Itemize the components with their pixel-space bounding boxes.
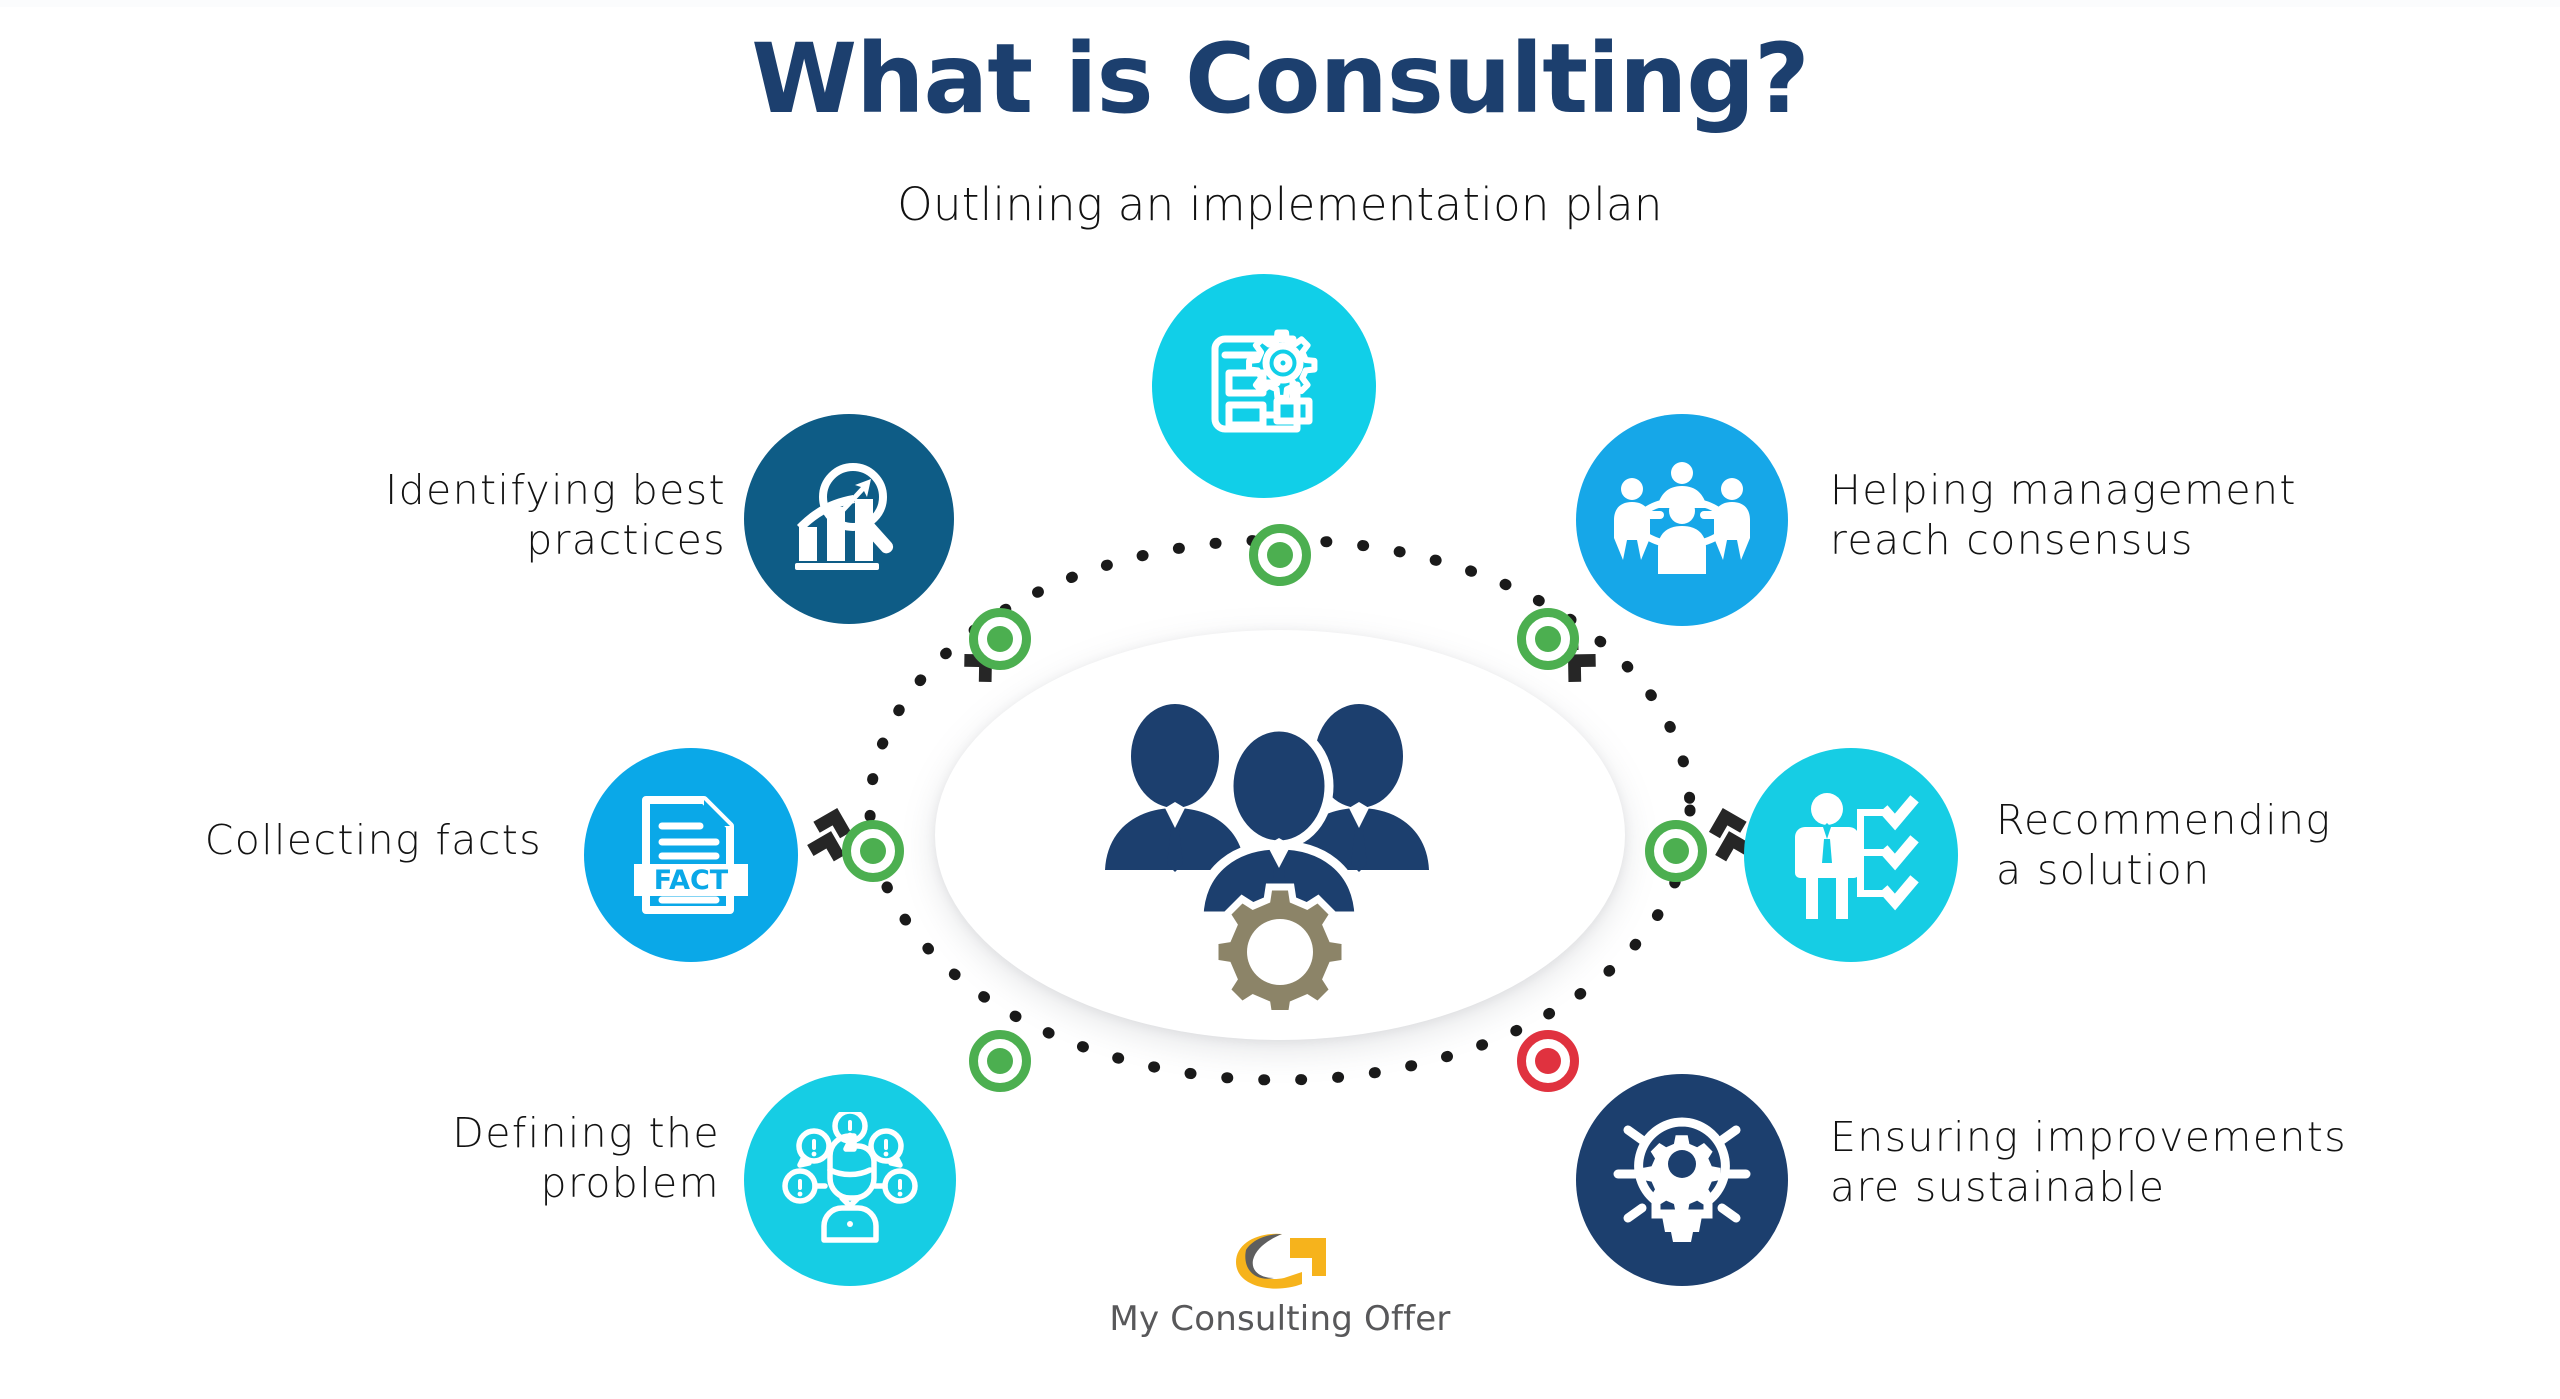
magnifier-bar-chart-icon bbox=[785, 455, 913, 583]
consultant-checklist-icon bbox=[1783, 791, 1919, 919]
node-dot bbox=[1535, 1048, 1561, 1074]
step-icon-collecting-facts[interactable]: FACT bbox=[584, 748, 798, 962]
brand-footer[interactable]: My Consulting Offer bbox=[0, 1232, 2560, 1336]
node-lower-left[interactable] bbox=[969, 1030, 1031, 1092]
consulting-cycle-diagram: FACT bbox=[0, 0, 2560, 1399]
node-dot bbox=[1535, 626, 1561, 652]
step-label-recommending-a-solution: Recommending a solution bbox=[1996, 795, 2556, 895]
fact-document-icon: FACT bbox=[630, 790, 752, 920]
node-upper-left[interactable] bbox=[969, 608, 1031, 670]
swoosh-arrow-logo bbox=[1226, 1232, 1334, 1296]
node-dot bbox=[1267, 542, 1293, 568]
meeting-table-people-icon bbox=[1612, 459, 1752, 581]
node-dot bbox=[987, 626, 1013, 652]
node-upper-right[interactable] bbox=[1517, 608, 1579, 670]
step-icon-helping-management-reach-consensus[interactable] bbox=[1576, 414, 1788, 626]
node-lower-right[interactable] bbox=[1517, 1030, 1579, 1092]
step-icon-identifying-best-practices[interactable] bbox=[744, 414, 954, 624]
node-dot bbox=[1663, 838, 1689, 864]
node-top[interactable] bbox=[1249, 524, 1311, 586]
brand-name: My Consulting Offer bbox=[0, 1302, 2560, 1336]
step-label-identifying-best-practices: Identifying best practices bbox=[296, 465, 726, 565]
node-left[interactable] bbox=[842, 820, 904, 882]
step-label-collecting-facts: Collecting facts bbox=[112, 815, 542, 865]
node-dot bbox=[987, 1048, 1013, 1074]
lightbulb-gear-icon bbox=[1612, 1112, 1752, 1248]
infographic-canvas: What is Consulting? Outlining an impleme… bbox=[0, 0, 2560, 1399]
node-dot bbox=[860, 838, 886, 864]
step-icon-outlining-plan[interactable] bbox=[1152, 274, 1376, 498]
step-label-ensuring-improvements-sustainable: Ensuring improvements are sustainable bbox=[1830, 1112, 2530, 1212]
step-label-helping-management-reach-consensus: Helping management reach consensus bbox=[1830, 465, 2490, 565]
blueprint-gear-icon bbox=[1197, 319, 1331, 453]
step-label-defining-the-problem: Defining the problem bbox=[300, 1108, 720, 1208]
step-icon-recommending-a-solution[interactable] bbox=[1744, 748, 1958, 962]
fact-icon-text: FACT bbox=[654, 865, 729, 896]
consulting-team-gear-icon bbox=[1075, 690, 1485, 1010]
problem-person-alerts-icon bbox=[780, 1112, 920, 1248]
node-right[interactable] bbox=[1645, 820, 1707, 882]
